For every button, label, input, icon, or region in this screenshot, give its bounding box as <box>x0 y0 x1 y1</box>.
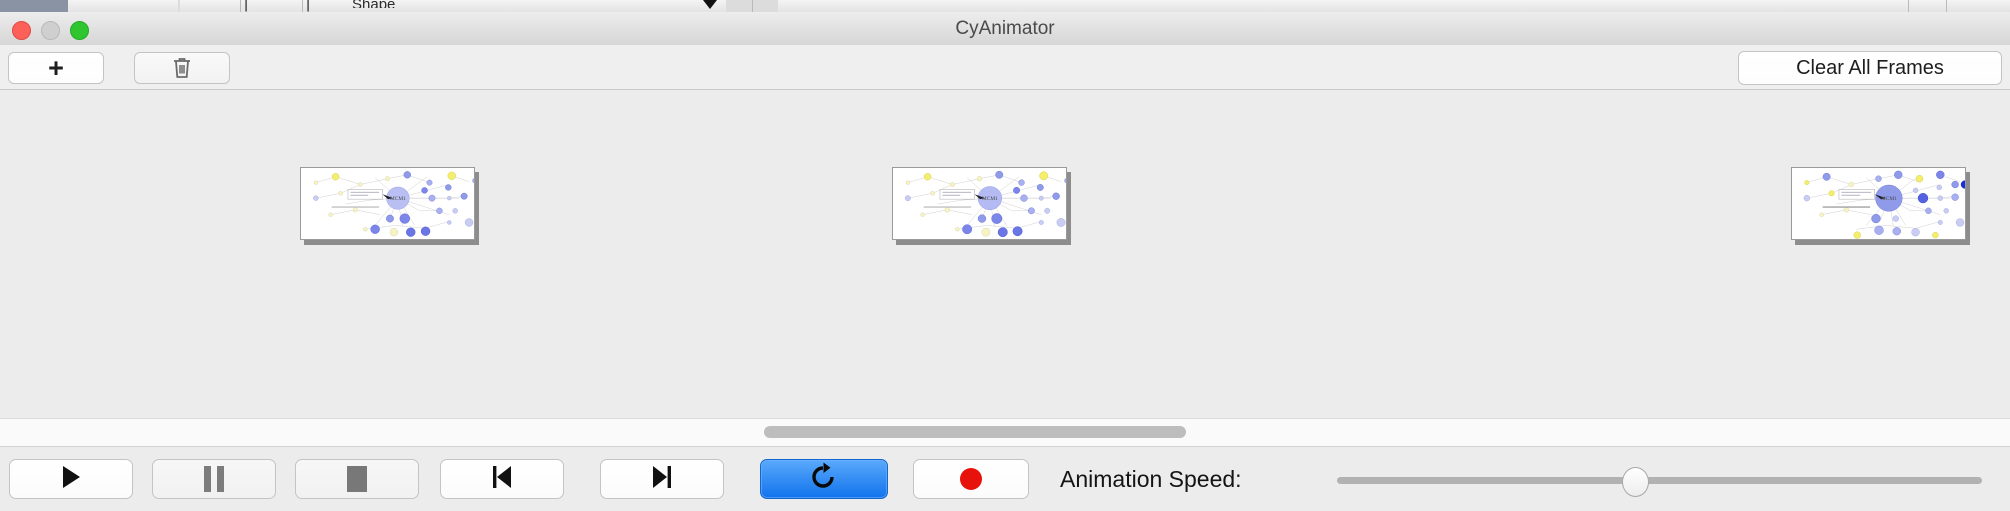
record-button[interactable] <box>913 459 1029 499</box>
timeline-pane[interactable]: MCM1 <box>0 90 2010 324</box>
background-divider-1 <box>178 0 180 12</box>
plus-icon: + <box>48 55 64 82</box>
background-divider-3 <box>302 0 303 12</box>
thumbnail-canvas: MCM1 <box>892 167 1067 240</box>
background-divider-4 <box>752 0 753 12</box>
animation-speed-slider-knob[interactable] <box>1622 467 1649 497</box>
thumbnail-canvas: MCM1 <box>1791 167 1966 240</box>
pause-button[interactable] <box>152 459 276 499</box>
step-back-button[interactable] <box>440 459 564 499</box>
svg-text:MCM1: MCM1 <box>1881 196 1897 202</box>
clear-all-frames-button[interactable]: Clear All Frames <box>1738 51 2002 85</box>
background-glyph-2: | <box>306 0 310 12</box>
frame-toolbar: + Clear All Frames <box>0 45 2010 90</box>
stop-icon <box>347 466 367 492</box>
network-graph-2: MCM1 <box>893 168 1066 239</box>
playback-control-bar: Animation Speed: <box>0 446 2010 511</box>
window-title: CyAnimator <box>0 12 2010 45</box>
background-divider-6 <box>1946 0 1947 12</box>
background-selected-tab <box>0 0 68 12</box>
keyframe-thumbnail-2[interactable]: MCM1 <box>892 167 1067 240</box>
background-cursor-arrow <box>703 0 717 9</box>
delete-frame-button[interactable] <box>134 52 230 84</box>
add-frame-button[interactable]: + <box>8 52 104 84</box>
skip-previous-icon <box>489 463 515 496</box>
timeline-scrollbar-track[interactable] <box>0 418 2010 447</box>
keyframe-thumbnail-3[interactable]: MCM1 <box>1791 167 1966 240</box>
background-divider-5 <box>1908 0 1909 12</box>
loop-icon <box>810 462 838 497</box>
loop-button[interactable] <box>760 459 888 499</box>
pause-icon <box>204 466 224 492</box>
animation-speed-label: Animation Speed: <box>1060 459 1242 499</box>
background-window-label: Shape <box>352 0 395 8</box>
background-divider-2 <box>240 0 241 12</box>
svg-text:MCM1: MCM1 <box>982 196 998 202</box>
play-icon <box>59 463 83 496</box>
background-glyph-1: | <box>244 0 248 12</box>
timeline-scrollbar-thumb[interactable] <box>764 426 1186 438</box>
keyframe-thumbnail-1[interactable]: MCM1 <box>300 167 475 240</box>
record-icon <box>960 468 982 490</box>
stop-button[interactable] <box>295 459 419 499</box>
skip-next-icon <box>649 463 675 496</box>
network-graph-3: MCM1 <box>1792 168 1965 239</box>
clear-all-frames-label: Clear All Frames <box>1796 57 1944 80</box>
play-button[interactable] <box>9 459 133 499</box>
step-forward-button[interactable] <box>600 459 724 499</box>
background-window-sliver: | | Shape <box>0 0 2010 12</box>
network-graph-1: MCM1 <box>301 168 474 239</box>
trash-icon <box>171 56 193 80</box>
svg-text:MCM1: MCM1 <box>390 196 406 202</box>
cyanimator-window: | | Shape CyAnimator + <box>0 0 2010 510</box>
animation-speed-slider-track[interactable] <box>1337 477 1982 484</box>
thumbnail-canvas: MCM1 <box>300 167 475 240</box>
title-bar: CyAnimator <box>0 12 2010 46</box>
